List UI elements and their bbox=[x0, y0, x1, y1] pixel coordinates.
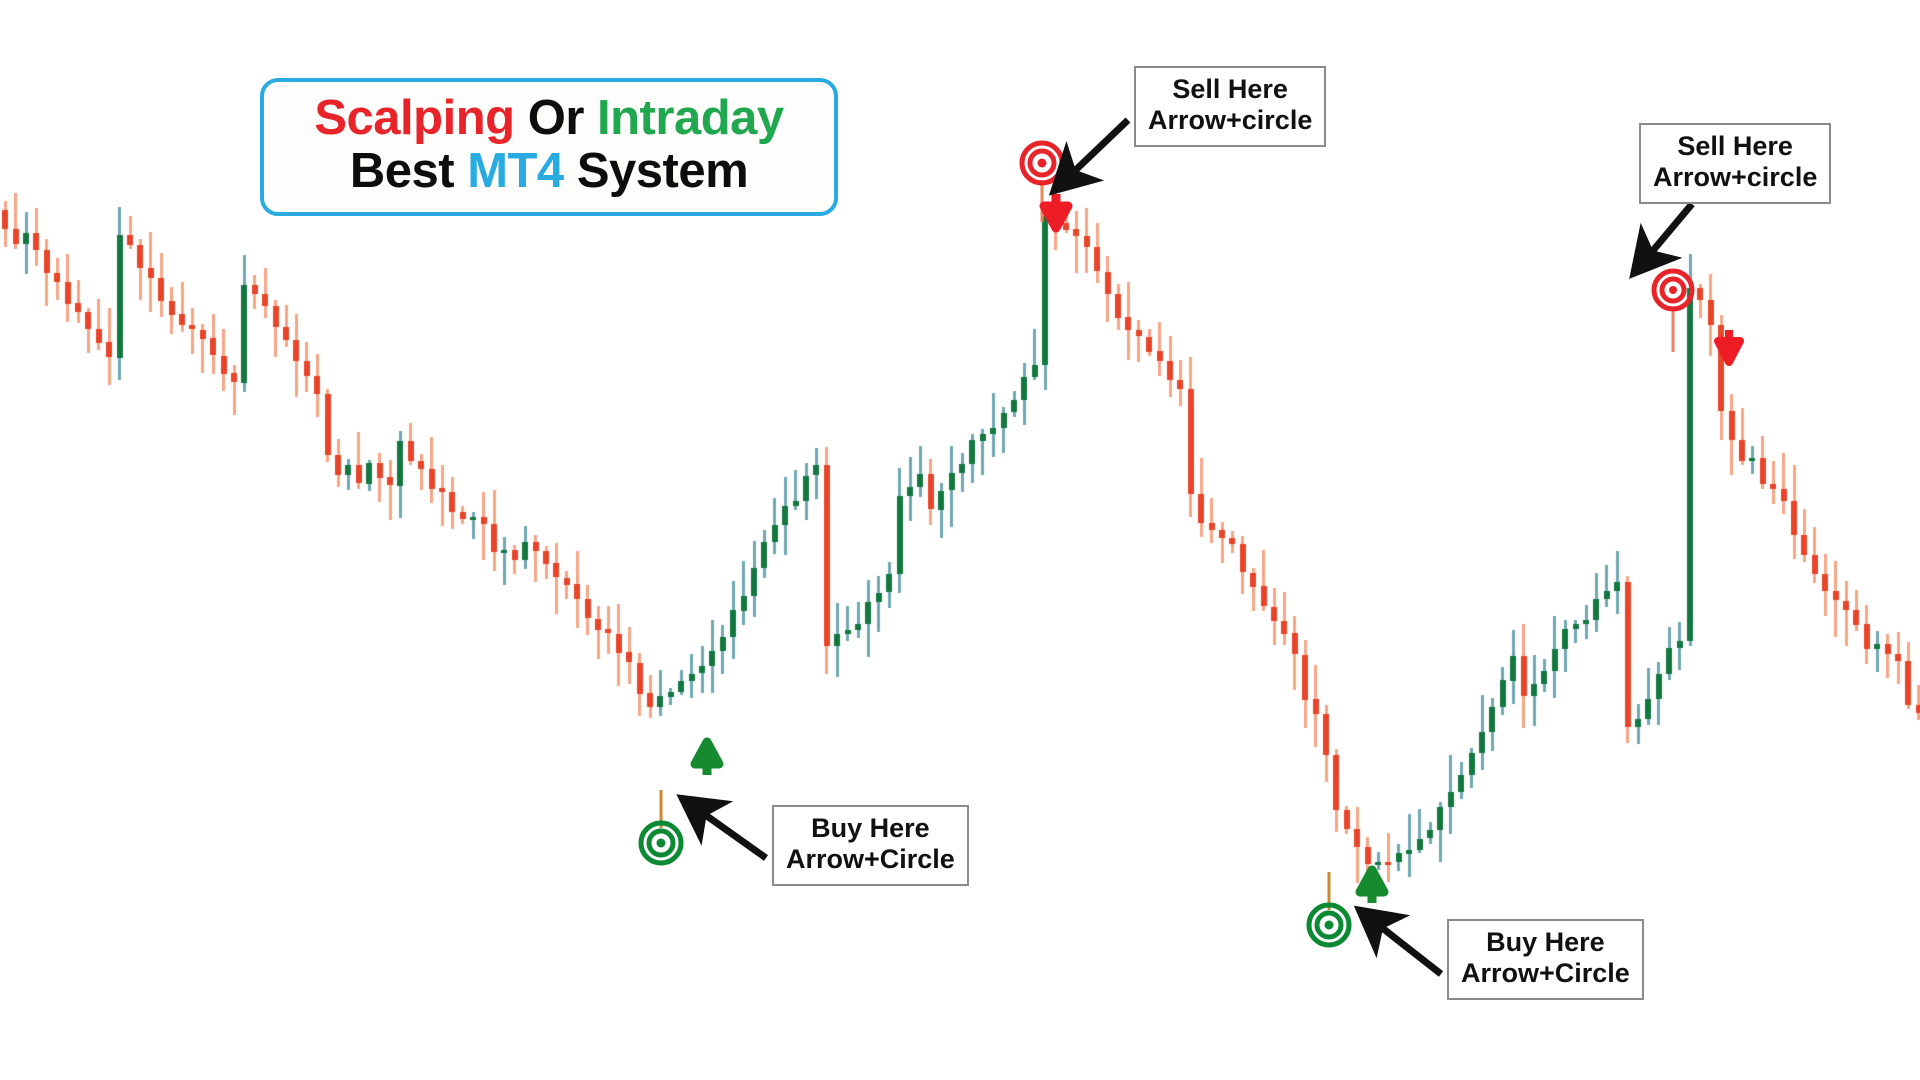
title-line-1: Scalping Or Intraday bbox=[278, 92, 820, 145]
title-banner: Scalping Or Intraday Best MT4 System bbox=[260, 78, 838, 216]
callout-sell-1-line1: Sell Here bbox=[1148, 74, 1312, 105]
callout-sell-here-2: Sell Here Arrow+circle bbox=[1639, 123, 1831, 204]
chart-screenshot: Scalping Or Intraday Best MT4 System Sel… bbox=[0, 0, 1920, 1080]
callout-sell-1-line2: Arrow+circle bbox=[1148, 105, 1312, 136]
title-word-best: Best bbox=[350, 144, 454, 198]
title-word-scalping: Scalping bbox=[314, 91, 514, 145]
title-word-mt4: MT4 bbox=[467, 144, 564, 198]
callout-buy-2-line2: Arrow+Circle bbox=[1461, 958, 1630, 989]
title-line-2: Best MT4 System bbox=[278, 145, 820, 198]
callout-buy-here-2: Buy Here Arrow+Circle bbox=[1447, 919, 1644, 1000]
title-word-intraday: Intraday bbox=[597, 91, 784, 145]
callout-sell-2-line1: Sell Here bbox=[1653, 131, 1817, 162]
callout-sell-here-1: Sell Here Arrow+circle bbox=[1134, 66, 1326, 147]
callout-sell-2-line2: Arrow+circle bbox=[1653, 162, 1817, 193]
title-word-or: Or bbox=[528, 91, 584, 145]
callout-buy-1-line2: Arrow+Circle bbox=[786, 844, 955, 875]
callout-buy-2-line1: Buy Here bbox=[1461, 927, 1630, 958]
callout-buy-here-1: Buy Here Arrow+Circle bbox=[772, 805, 969, 886]
title-word-system: System bbox=[577, 144, 748, 198]
callout-buy-1-line1: Buy Here bbox=[786, 813, 955, 844]
